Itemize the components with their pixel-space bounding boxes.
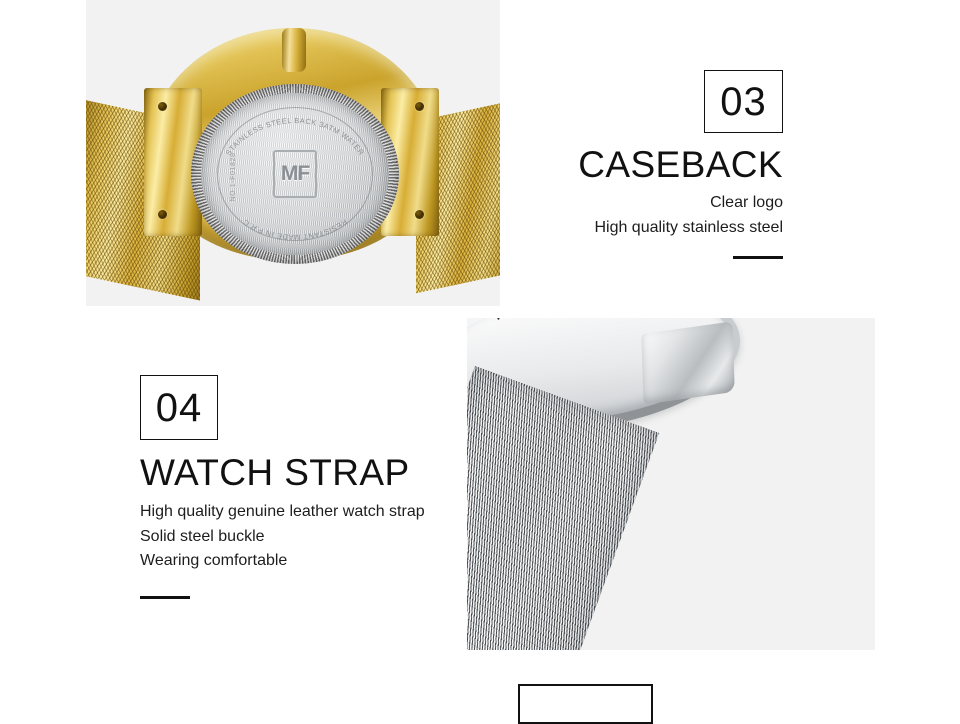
feature-description-caseback: Clear logo High quality stainless steel [520,191,783,241]
silver-lug [641,321,735,404]
feature-line: Wearing comfortable [140,549,470,574]
hour-marker [497,318,501,320]
feature-number-badge-03: 03 [704,70,783,133]
feature-line: High quality stainless steel [520,216,783,241]
photo-gold-caseback: STAINLESS STEEL BACK 3ATM WATER RESISTAN… [86,0,500,306]
feature-block-watch-strap: 04 WATCH STRAP High quality genuine leat… [140,375,470,599]
feature-title-caseback: CASEBACK [520,146,783,185]
feature-line: High quality genuine leather watch strap [140,500,470,525]
lug-screw-icon [158,210,167,219]
feature-divider-rule [733,256,783,259]
photo-silver-strap [467,318,875,650]
feature-number-badge-04: 04 [140,375,218,440]
feature-line: Solid steel buckle [140,525,470,550]
feature-description-watch-strap: High quality genuine leather watch strap… [140,500,470,574]
caseback-serial-number: NO.1-F01828 [230,153,237,202]
caseback-brand-logo: MF [273,150,317,198]
lug-screw-icon [158,102,167,111]
feature-line: Clear logo [520,191,783,216]
next-section-number-badge-partial [518,684,653,724]
feature-title-watch-strap: WATCH STRAP [140,454,470,493]
watch-crown [282,28,306,72]
lug-screw-icon [415,210,424,219]
caseback-knurled-ring: STAINLESS STEEL BACK 3ATM WATER RESISTAN… [191,84,399,264]
feature-divider-rule [140,596,190,599]
feature-block-caseback: 03 CASEBACK Clear logo High quality stai… [520,70,783,259]
caseback-disc: STAINLESS STEEL BACK 3ATM WATER RESISTAN… [201,93,389,255]
lug-screw-icon [415,102,424,111]
